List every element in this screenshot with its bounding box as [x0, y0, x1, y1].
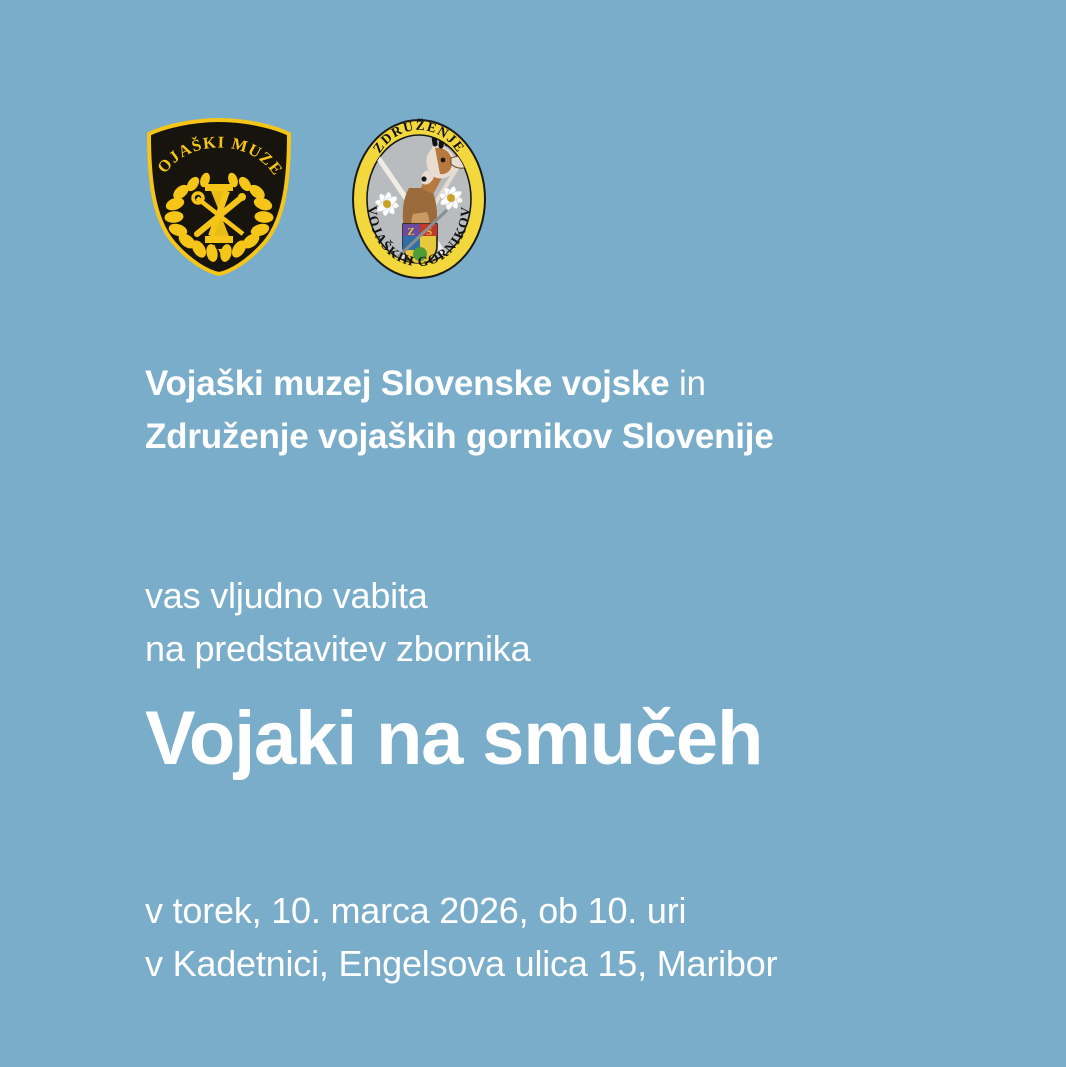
- event-location: v Kadetnici, Engelsova ulica 15, Maribor: [145, 937, 777, 990]
- invitation-poster: VOJAŠKI MUZEJ: [0, 0, 1066, 1067]
- invitation-line-2: na predstavitev zbornika: [145, 622, 530, 675]
- organizer-museum-name: Vojaški muzej Slovenske vojske: [145, 364, 669, 403]
- chamois-eye: [441, 158, 446, 163]
- organizers-line-1: Vojaški muzej Slovenske vojske in: [145, 357, 774, 410]
- event-details-block: v torek, 10. marca 2026, ob 10. uri v Ka…: [145, 884, 777, 990]
- svg-text:Z: Z: [407, 226, 414, 238]
- invitation-line-1: vas vljudno vabita: [145, 569, 530, 622]
- organizers-line-2: Združenje vojaških gornikov Slovenije: [145, 410, 774, 463]
- vojaski-muzej-shield-logo: VOJAŠKI MUZEJ: [143, 118, 295, 276]
- logo-row: VOJAŠKI MUZEJ: [143, 118, 487, 280]
- publication-title-block: Vojaki na smučeh: [145, 697, 762, 781]
- organizers-block: Vojaški muzej Slovenske vojske in Združe…: [145, 357, 774, 463]
- invitation-block: vas vljudno vabita na predstavitev zborn…: [145, 569, 530, 675]
- vojaski-gorniki-oval-logo: Z S ZDRUŽENJE VOJAŠKIH GORNIKOV: [351, 118, 487, 280]
- shield-bottom-text: ŠV: [208, 245, 231, 264]
- event-datetime: v torek, 10. marca 2026, ob 10. uri: [145, 884, 777, 937]
- conjunction-in: in: [669, 364, 705, 403]
- publication-title: Vojaki na smučeh: [145, 697, 762, 781]
